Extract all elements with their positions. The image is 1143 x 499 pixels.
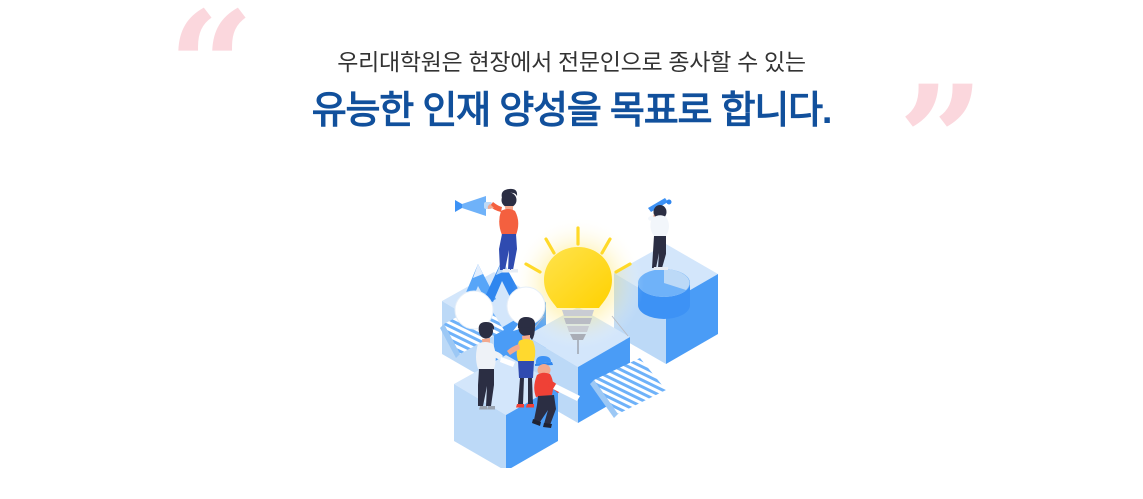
banner-headline: 유능한 인재 양성을 목표로 합니다. xyxy=(0,89,1143,135)
banner-subtitle: 우리대학원은 현장에서 전문인으로 종사할 수 있는 xyxy=(0,47,1143,78)
person-megaphone xyxy=(455,189,518,273)
promo-banner: “ ” 우리대학원은 현장에서 전문인으로 종사할 수 있는 유능한 인재 양성… xyxy=(0,0,1143,499)
pie-cylinder-chart xyxy=(638,269,690,319)
headline-block: 우리대학원은 현장에서 전문인으로 종사할 수 있는 유능한 인재 양성을 목표… xyxy=(0,47,1143,135)
hero-illustration xyxy=(416,168,726,468)
